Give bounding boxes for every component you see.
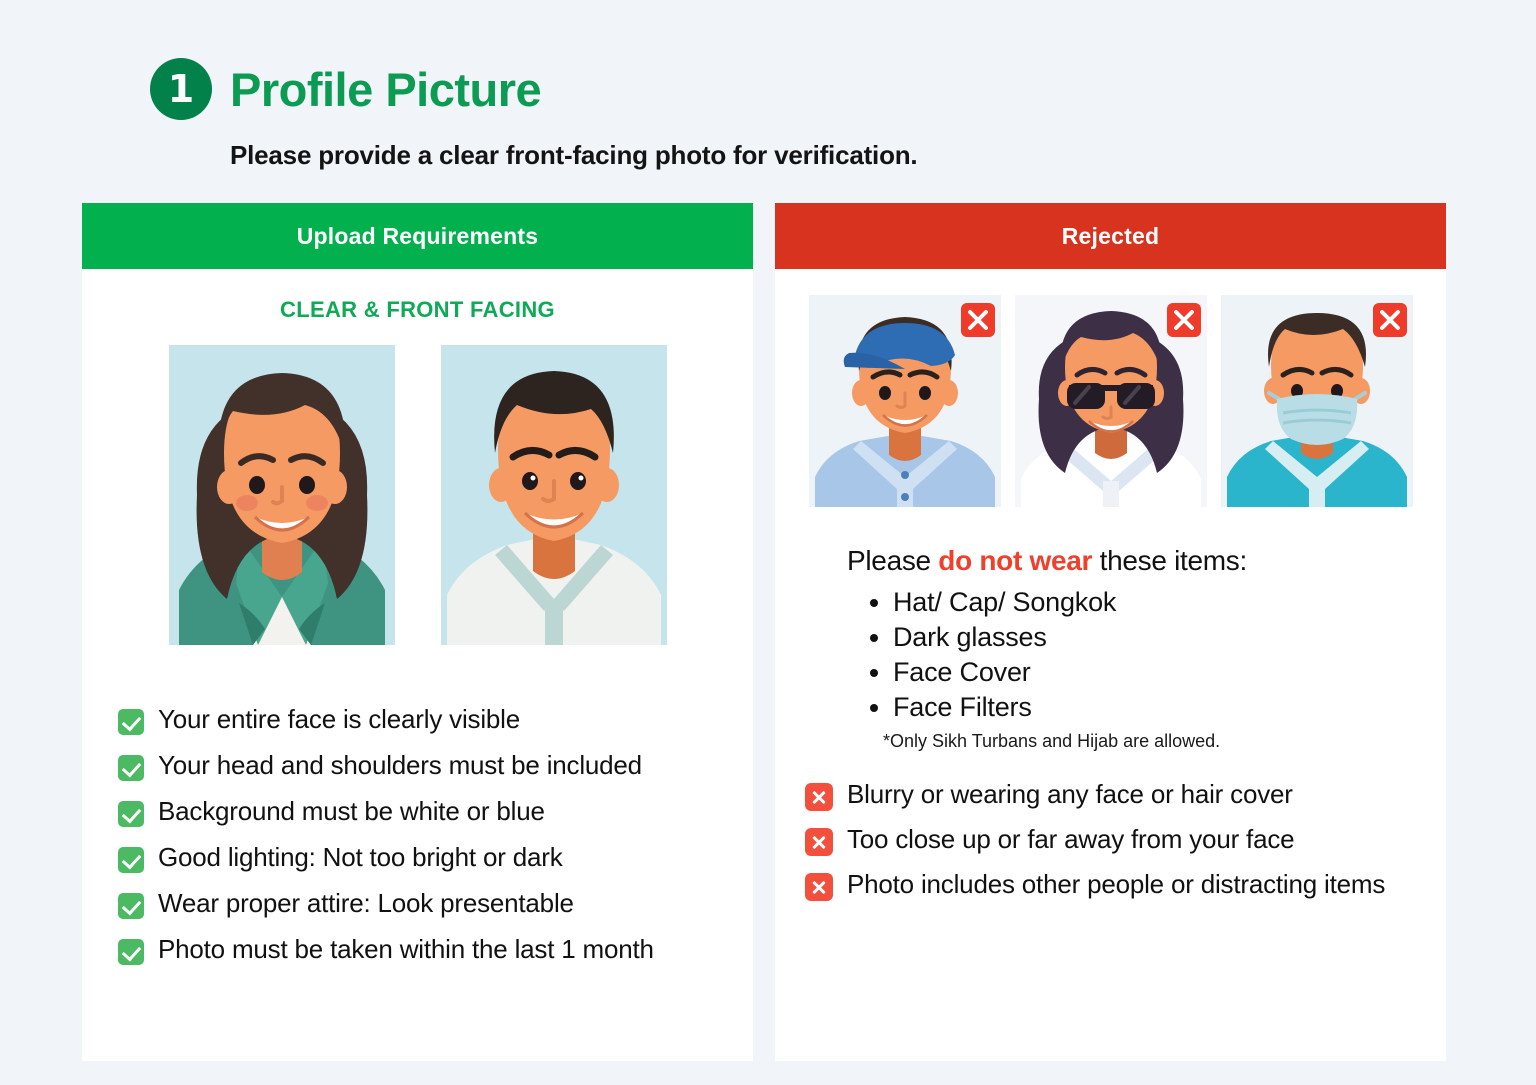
checklist-item: Your entire face is clearly visible xyxy=(118,705,753,735)
do-not-wear-item: Hat/ Cap/ Songkok xyxy=(893,585,1446,620)
check-icon xyxy=(118,801,144,827)
checklist-item-label: Photo must be taken within the last 1 mo… xyxy=(158,935,654,965)
do-not-wear-list: Hat/ Cap/ Songkok Dark glasses Face Cove… xyxy=(893,585,1446,725)
rejection-reason-label: Blurry or wearing any face or hair cover xyxy=(847,778,1293,811)
rejected-card: Rejected xyxy=(775,203,1446,1061)
check-icon xyxy=(118,939,144,965)
do-not-wear-item: Face Filters xyxy=(893,690,1446,725)
rejection-reasons-list: Blurry or wearing any face or hair cover… xyxy=(805,778,1446,901)
woman-portrait-photo xyxy=(169,345,395,645)
profile-picture-guidelines-page: 1 Profile Picture Please provide a clear… xyxy=(0,0,1536,1085)
do-not-wear-item: Face Cover xyxy=(893,655,1446,690)
x-icon xyxy=(805,828,833,856)
checklist-item-label: Your head and shoulders must be included xyxy=(158,751,642,781)
do-not-wear-note: *Only Sikh Turbans and Hijab are allowed… xyxy=(883,731,1446,752)
dnw-prefix: Please xyxy=(847,545,938,576)
dnw-emphasis: do not wear xyxy=(938,545,1092,576)
rejected-body: Please do not wear these items: Hat/ Cap… xyxy=(775,295,1446,901)
checklist-item-label: Good lighting: Not too bright or dark xyxy=(158,843,563,873)
upload-requirements-body: CLEAR & FRONT FACING xyxy=(82,297,753,965)
check-icon xyxy=(118,847,144,873)
page-title: Profile Picture xyxy=(230,66,541,113)
check-icon xyxy=(118,755,144,781)
checklist-item: Background must be white or blue xyxy=(118,797,753,827)
checklist-item: Your head and shoulders must be included xyxy=(118,751,753,781)
man-portrait-photo xyxy=(441,345,667,645)
check-icon xyxy=(118,709,144,735)
rejection-reason-item: Photo includes other people or distracti… xyxy=(805,868,1446,901)
do-not-wear-section: Please do not wear these items: Hat/ Cap… xyxy=(847,545,1446,752)
cards-container: Upload Requirements CLEAR & FRONT FACING xyxy=(82,203,1446,1061)
checklist-item: Photo must be taken within the last 1 mo… xyxy=(118,935,753,965)
woman-with-dark-glasses-photo xyxy=(1015,295,1207,507)
rejection-reason-label: Photo includes other people or distracti… xyxy=(847,868,1385,901)
rejected-photo-examples xyxy=(775,295,1446,507)
title-row: 1 Profile Picture xyxy=(150,58,917,120)
rejection-reason-item: Too close up or far away from your face xyxy=(805,823,1446,856)
rejected-header: Rejected xyxy=(775,203,1446,269)
man-with-face-mask-photo xyxy=(1221,295,1413,507)
page-subtitle: Please provide a clear front-facing phot… xyxy=(230,140,917,171)
rejection-reason-label: Too close up or far away from your face xyxy=(847,823,1294,856)
upload-requirements-header: Upload Requirements xyxy=(82,203,753,269)
rejection-reason-item: Blurry or wearing any face or hair cover xyxy=(805,778,1446,811)
upload-requirements-card: Upload Requirements CLEAR & FRONT FACING xyxy=(82,203,753,1061)
checklist-item-label: Your entire face is clearly visible xyxy=(158,705,520,735)
dnw-suffix: these items: xyxy=(1092,545,1247,576)
good-photo-examples xyxy=(82,345,753,645)
checklist-item: Good lighting: Not too bright or dark xyxy=(118,843,753,873)
step-number-badge: 1 xyxy=(150,58,212,120)
check-icon xyxy=(118,893,144,919)
x-icon xyxy=(805,783,833,811)
do-not-wear-item: Dark glasses xyxy=(893,620,1446,655)
man-with-cap-photo xyxy=(809,295,1001,507)
checklist-item: Wear proper attire: Look presentable xyxy=(118,889,753,919)
checklist-item-label: Wear proper attire: Look presentable xyxy=(158,889,574,919)
do-not-wear-title: Please do not wear these items: xyxy=(847,545,1446,577)
clear-front-facing-label: CLEAR & FRONT FACING xyxy=(82,297,753,323)
page-header: 1 Profile Picture Please provide a clear… xyxy=(150,58,917,171)
requirements-checklist: Your entire face is clearly visible Your… xyxy=(118,705,753,965)
checklist-item-label: Background must be white or blue xyxy=(158,797,545,827)
x-icon xyxy=(805,873,833,901)
